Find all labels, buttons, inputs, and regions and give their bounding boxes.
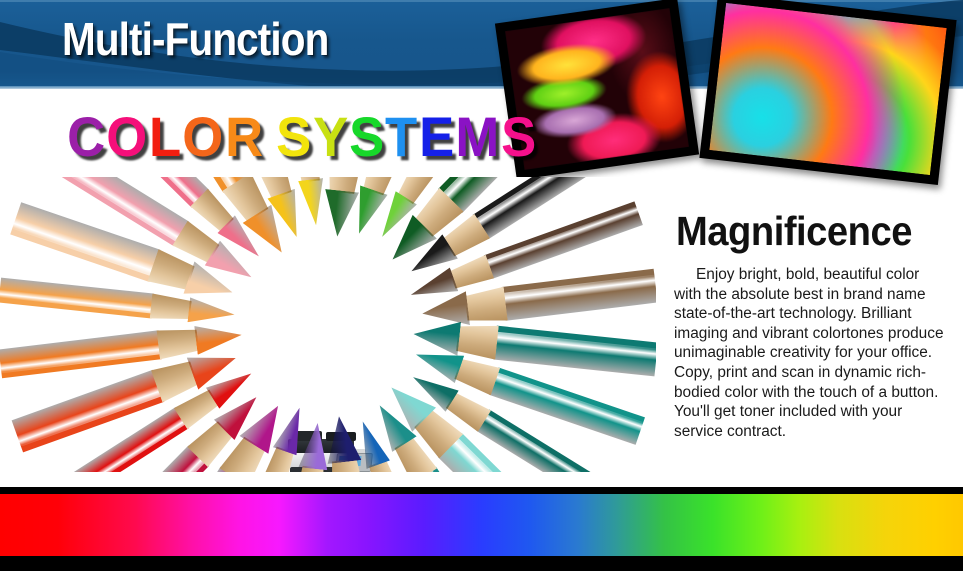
pencil-wood-collar [156,326,199,360]
banner-title: Multi-Function [62,14,328,64]
headline-letter-3: O [183,108,223,166]
magnificence-heading: Magnificence [676,209,912,253]
pencil-barrel [502,268,656,320]
pencil-barrel [493,325,656,376]
headline-letter-2: L [149,108,180,166]
headline-letter-8: S [349,108,383,166]
pencil-gloss [1,349,161,373]
pencil-gloss [12,223,153,276]
pencil-barrel [0,278,154,319]
headline-letter-1: O [107,108,147,166]
pencil-gloss [496,331,656,353]
pencil-gloss [0,294,153,314]
headline-letter-6: S [276,108,310,166]
spectrum-bar [0,494,963,557]
pencil-gloss [502,274,655,298]
roses-photo-inner [709,3,946,175]
roses-photo [699,0,956,185]
headline-letter-4: R [225,108,262,166]
headline-space [264,108,275,166]
color-systems-headline: COLOR SYSTEMS [66,108,536,166]
headline-letter-7: Y [313,108,347,166]
pencil-wood-collar [150,293,192,322]
pencil-tip [187,297,235,327]
pencil-gloss [476,177,604,223]
pencil-tip [420,291,470,330]
colored-pencils-photo [0,177,656,472]
spectrum-bottom-border [0,556,963,571]
headline-letter-0: C [67,108,104,166]
pencil-wood-collar [456,321,499,359]
headline-letter-10: E [419,108,453,166]
pencil-wood-collar [464,286,508,325]
headline-letter-9: T [385,108,416,166]
spectrum-top-border [0,487,963,494]
pencil-gloss [495,372,643,426]
flyer-page: Multi-Function COLOR SYSTEMS [0,0,963,571]
body-copy: Enjoy bright, bold, beautiful color with… [674,265,946,441]
roses-artwork [709,3,946,175]
pencil-barrel [0,330,162,378]
headline-letter-12: S [501,108,535,166]
headline-letter-11: M [455,108,498,166]
